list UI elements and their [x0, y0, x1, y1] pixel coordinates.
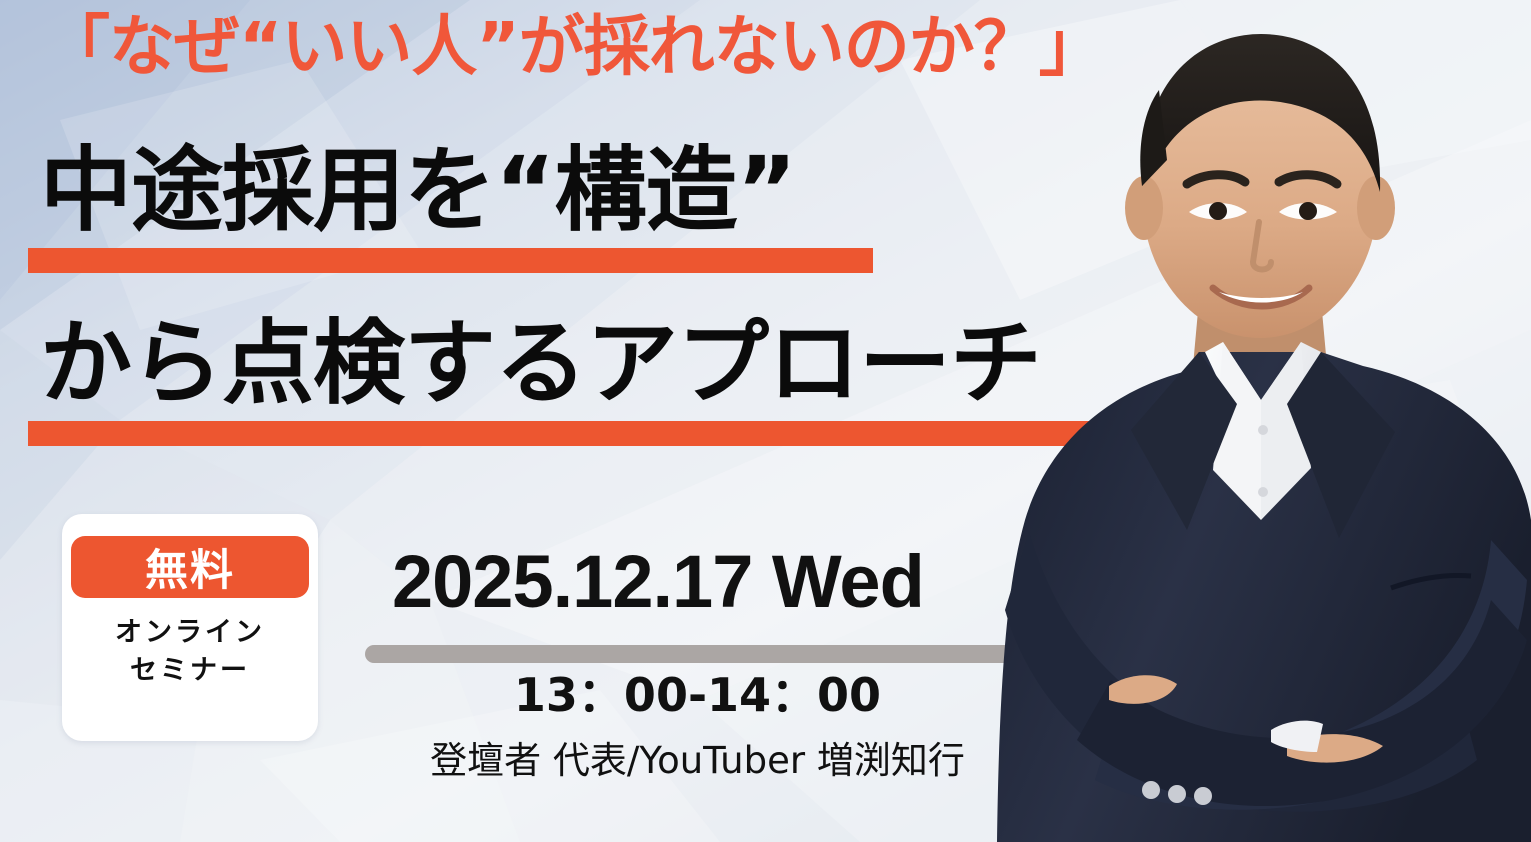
- seminar-banner: 「なぜ“いい人”が採れないのか？」 中途採用を“構造” から点検するアプローチ …: [0, 0, 1531, 842]
- seminar-format-line-2: セミナー: [115, 652, 265, 690]
- title-line-1: 中途採用を“構造”: [40, 145, 796, 237]
- seminar-format: オンライン セミナー: [115, 614, 265, 691]
- title-underline-2: [28, 421, 1146, 446]
- free-badge: 無料: [71, 536, 309, 598]
- title-underline-1: [28, 248, 873, 273]
- date-divider: [365, 645, 1030, 663]
- event-speaker: 登壇者 代表/YouTuber 増渕知行: [365, 742, 1030, 779]
- title-line-2: から点検するアプローチ: [40, 318, 1041, 410]
- seminar-format-line-1: オンライン: [115, 614, 265, 652]
- headline: 「なぜ“いい人”が採れないのか？」: [44, 14, 1104, 80]
- event-time: 13：00-14：00: [365, 672, 1030, 718]
- event-date: 2025.12.17 Wed: [392, 545, 924, 619]
- info-card: 無料 オンライン セミナー: [62, 514, 318, 741]
